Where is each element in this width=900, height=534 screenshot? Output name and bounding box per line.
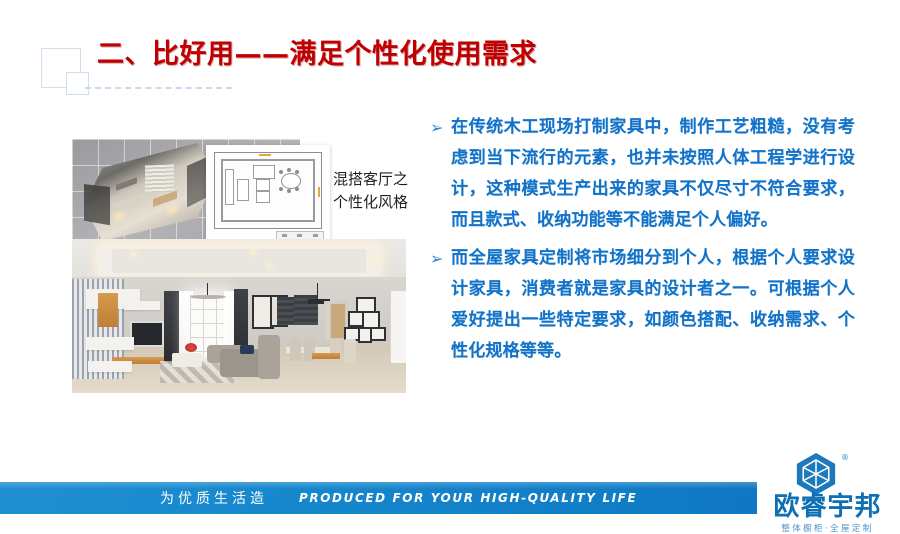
plan-chair-2 [287, 168, 291, 172]
render-lower-cabinet [86, 337, 134, 350]
plan-unit-b [256, 191, 270, 203]
render-coffee-table [172, 353, 202, 367]
isometric-room-model [84, 139, 216, 245]
plan-dimension-tick-top [259, 154, 271, 156]
plan-bed [237, 179, 249, 201]
footer-slogan-cn: 为优质生活造 [160, 488, 268, 508]
floor-plan-drawing [214, 152, 322, 229]
plan-chair-6 [295, 187, 299, 191]
figure-caption-line1: 混搭客厅之 [333, 168, 433, 191]
content-bullet-list: ➢ 在传统木工现场打制家具中，制作工艺粗糙，没有考虑到当下流行的元素，也并未按照… [430, 112, 855, 374]
isometric-window [145, 165, 174, 193]
plan-chair-3 [295, 170, 299, 174]
bullet-arrow-icon: ➢ [430, 112, 451, 236]
plan-chair-1 [279, 170, 283, 174]
render-door [390, 291, 406, 363]
brand-name: 欧睿宇邦 [755, 494, 900, 520]
slide-canvas: 二、比好用——满足个性化使用需求 [0, 0, 900, 534]
render-sofa-back [258, 335, 280, 379]
render-downlight-3 [268, 265, 271, 268]
plan-wall-top [221, 159, 315, 161]
render-flower-vase [185, 343, 197, 352]
decorative-square-small [66, 72, 89, 95]
render-television [130, 321, 164, 347]
plan-unit-a [256, 179, 270, 191]
render-dining-chair-4 [344, 339, 356, 363]
render-downlight-1 [132, 253, 135, 256]
plan-wall-right [313, 159, 315, 222]
registered-trademark-icon: ® [841, 453, 849, 462]
render-downlight-4 [372, 259, 375, 262]
plan-wall-left [221, 159, 223, 222]
plan-wall-bottom [221, 220, 315, 222]
bullet-text: 在传统木工现场打制家具中，制作工艺粗糙，没有考虑到当下流行的元素，也并未按照人体… [451, 112, 855, 236]
render-bench [312, 353, 340, 359]
render-pendant-lamp [190, 295, 226, 299]
slide-title: 二、比好用——满足个性化使用需求 [97, 32, 537, 71]
render-wood-cabinet [98, 293, 118, 327]
list-item: ➢ 而全屋家具定制将市场细分到个人，根据个人要求设计家具，消费者就是家具的设计者… [430, 243, 855, 367]
render-ceiling-panel [112, 249, 366, 273]
plan-dimension-tick-right [318, 187, 320, 197]
render-console-base [88, 361, 132, 372]
render-photo-frame-6 [370, 327, 386, 341]
render-dining-chair-1 [290, 339, 301, 361]
render-pendant-rod [207, 283, 208, 295]
decorative-dashed-rule [85, 87, 232, 89]
plan-counter [253, 165, 275, 179]
render-cushion [240, 345, 254, 354]
render-dining-pendant-rod [317, 283, 318, 299]
hexagon-wheel-icon [794, 452, 838, 496]
bullet-arrow-icon: ➢ [430, 243, 451, 367]
figure-caption-line2: 个性化风格 [333, 191, 433, 214]
footer-slogan-en: PRODUCED FOR YOUR HIGH-QUALITY LIFE [299, 491, 637, 505]
plan-closet [225, 169, 234, 205]
plan-chair-4 [279, 187, 283, 191]
render-downlight-2 [252, 251, 255, 254]
figure-caption: 混搭客厅之 个性化风格 [333, 168, 433, 215]
plan-chair-5 [287, 189, 291, 193]
bullet-text: 而全屋家具定制将市场细分到个人，根据个人要求设计家具，消费者就是家具的设计者之一… [451, 243, 855, 367]
brand-tagline: 整体橱柜·全屋定制 [755, 522, 900, 534]
living-room-render [72, 239, 406, 393]
render-shelf-board [124, 301, 160, 310]
list-item: ➢ 在传统木工现场打制家具中，制作工艺粗糙，没有考虑到当下流行的元素，也并未按照… [430, 112, 855, 236]
floor-plan-card [206, 145, 330, 243]
brand-logo: ® 欧睿宇邦 整体橱柜·全屋定制 [755, 450, 900, 532]
